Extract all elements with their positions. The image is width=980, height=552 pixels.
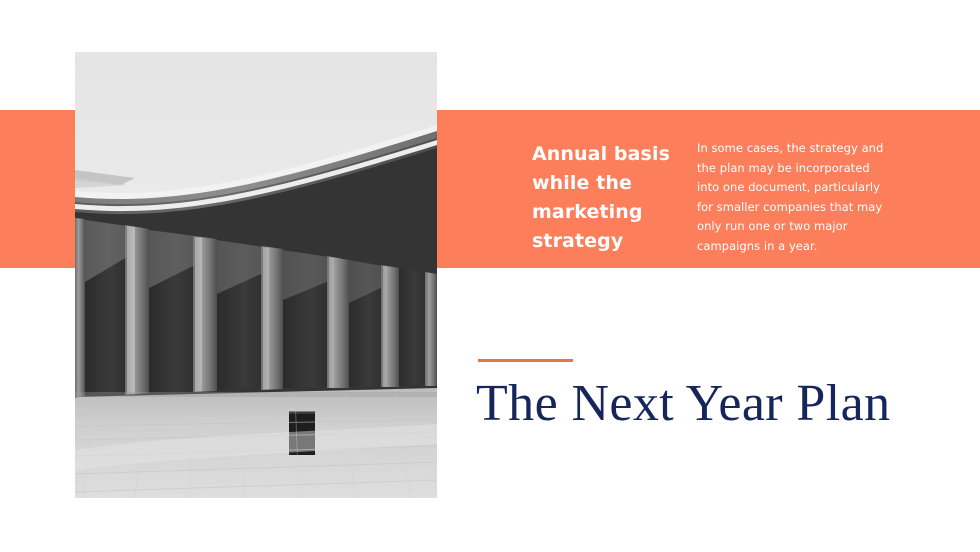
orange-band-left-segment <box>0 110 75 268</box>
slide-canvas: Annual basis while the marketing strateg… <box>0 0 980 552</box>
title-accent-rule <box>478 359 573 362</box>
band-heading-line: Annual basis <box>532 140 682 169</box>
band-heading-line: marketing <box>532 198 682 227</box>
band-heading-line: while the <box>532 169 682 198</box>
slide-title: The Next Year Plan <box>476 374 890 433</box>
band-paragraph-line: the plan may be incorporated <box>697 159 897 179</box>
band-paragraph-line: into one document, particularly <box>697 178 897 198</box>
band-paragraph-line: campaigns in a year. <box>697 237 897 257</box>
band-heading: Annual basis while the marketing strateg… <box>532 140 682 256</box>
band-paragraph-line: In some cases, the strategy and <box>697 139 897 159</box>
band-paragraph-line: only run one or two major <box>697 217 897 237</box>
band-paragraph-line: for smaller companies that may <box>697 198 897 218</box>
band-paragraph: In some cases, the strategy and the plan… <box>697 139 897 256</box>
architecture-photo <box>75 52 437 498</box>
photo-artwork <box>75 52 437 498</box>
band-heading-line: strategy <box>532 227 682 256</box>
